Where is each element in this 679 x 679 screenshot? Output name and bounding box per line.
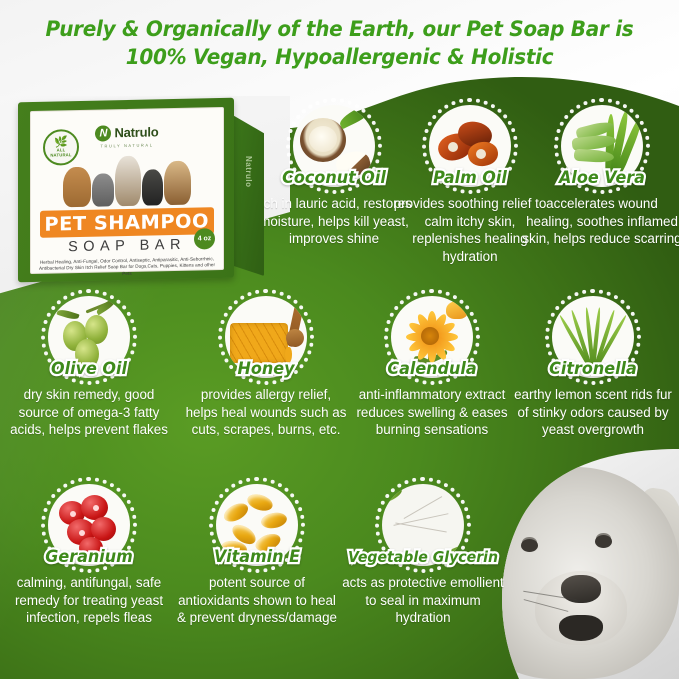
ingredient-description: earthy lemon scent rids fur of stinky od…	[508, 386, 678, 439]
ingredient-card-citronella: Citronella earthy lemon scent rids fur o…	[508, 289, 678, 439]
product-title-band: PET SHAMPOO	[40, 207, 214, 238]
bulldog-image	[63, 167, 91, 208]
ingredient-name: Geranium	[9, 547, 169, 567]
ingredient-name: Calendula	[352, 359, 512, 379]
package-front-label: 🌿 ALL NATURAL NNatrulo TRULY NATURAL	[30, 107, 224, 274]
ingredient-card-honey: Honey provides allergy relief, helps hea…	[181, 289, 351, 439]
page-headline: Purely & Organically of the Earth, our P…	[24, 16, 655, 72]
black-cat-image	[142, 169, 163, 205]
ingredient-name: Vitamin E	[177, 547, 337, 567]
product-package: Natrulo 🌿 ALL NATURAL NNatrulo TRULY NAT…	[18, 100, 263, 280]
product-fineprint: Herbal Healing, Anti-Fungal, Odor Contro…	[38, 256, 216, 279]
product-title: PET SHAMPOO	[45, 210, 210, 235]
gray-cat-image	[92, 173, 114, 206]
ingredient-card-vitamin-e: Vitamin E potent source of antioxidants …	[172, 477, 342, 627]
ingredient-name: Vegetable Glycerin	[343, 547, 503, 567]
ingredient-name: Aloe Vera	[522, 168, 679, 188]
ingredient-description: provides allergy relief, helps heal woun…	[181, 386, 351, 439]
pet-soap-infographic: Purely & Organically of the Earth, our P…	[0, 0, 679, 679]
seal-text-natural: NATURAL	[50, 152, 71, 157]
ingredient-card-calendula: Calendula anti-inflammatory extract redu…	[347, 289, 517, 439]
ingredient-name: Olive Oil	[9, 359, 169, 379]
headline-line-1: Purely & Organically of the Earth, our P…	[46, 17, 634, 42]
package-front-panel: 🌿 ALL NATURAL NNatrulo TRULY NATURAL	[18, 98, 234, 283]
ingredient-description: accelerates wound healing, soothes infla…	[517, 195, 679, 248]
ingredient-card-vegetable-glycerin: Vegetable Glycerin acts as protective em…	[338, 477, 508, 627]
ingredient-description: calming, antifungal, safe remedy for tre…	[4, 574, 174, 627]
ingredient-description: dry skin remedy, good source of omega-3 …	[4, 386, 174, 439]
ingredient-description: anti-inflammatory extract reduces swelli…	[347, 386, 517, 439]
headline-line-2: 100% Vegan, Hypoallergenic & Holistic	[24, 44, 655, 72]
ingredient-description: potent source of antioxidants shown to h…	[172, 574, 342, 627]
ingredient-description: acts as protective emollient to seal in …	[338, 574, 508, 627]
ingredient-name: Honey	[186, 359, 346, 379]
ingredient-name: Citronella	[513, 359, 673, 379]
brand-mark-icon: N	[95, 125, 111, 141]
leaf-icon: 🌿	[54, 138, 68, 147]
spaniel-image	[115, 156, 141, 207]
ingredient-card-aloe-vera: Aloe Vera accelerates wound healing, soo…	[517, 98, 679, 248]
ingredient-card-geranium: Geranium calming, antifungal, safe remed…	[4, 477, 174, 627]
brand-name: Natrulo	[114, 125, 158, 141]
beagle-image	[164, 161, 191, 206]
package-side-logo: Natrulo	[235, 156, 253, 226]
ingredient-card-olive-oil: Olive Oil dry skin remedy, good source o…	[4, 289, 174, 439]
